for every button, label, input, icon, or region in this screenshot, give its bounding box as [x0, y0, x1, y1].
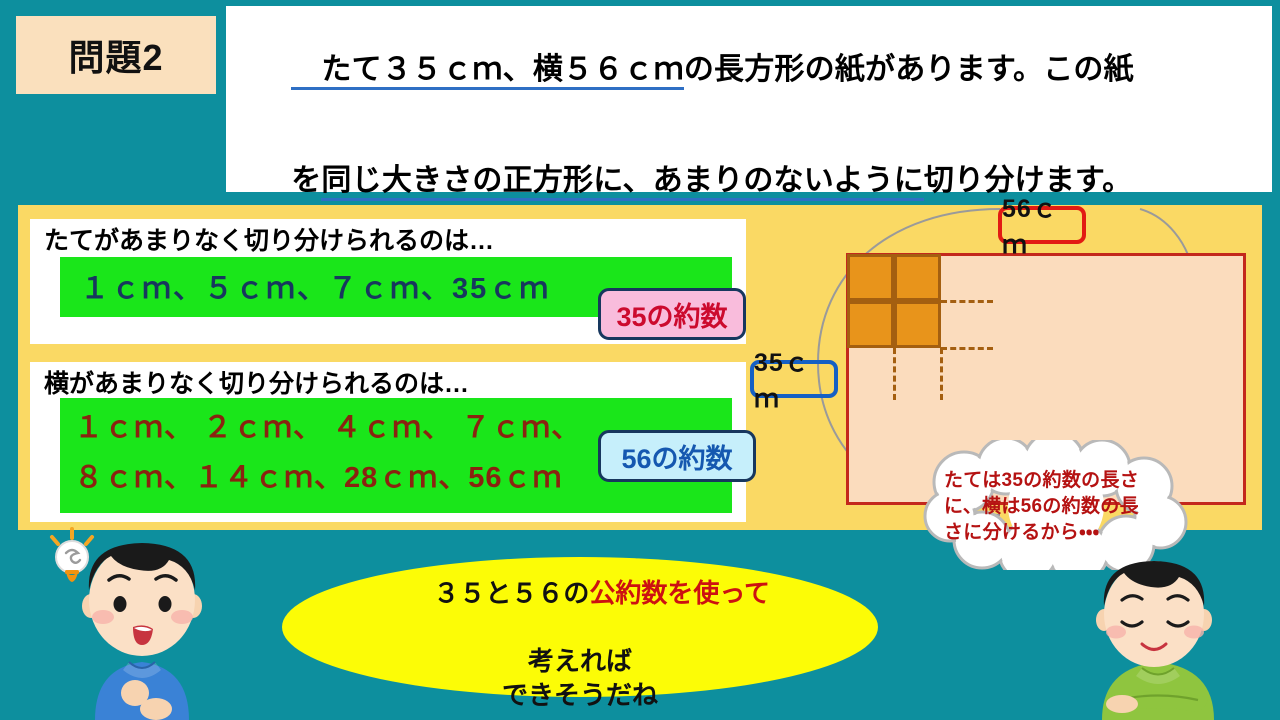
slide-root: 問題2 たて３５ｃｍ、横５６ｃｍの長方形の紙があります。この紙 を同じ大きさの正… [0, 0, 1280, 720]
dashed-guide-horizontal [941, 347, 993, 350]
problem-seg-2a: を [291, 164, 321, 197]
yoko-card-heading: 横があまりなく切り分けられるのは… [44, 364, 469, 400]
conclusion-line-3: できそうだね [502, 678, 658, 712]
dashed-guide-horizontal [941, 300, 993, 303]
speech-bubble-text: たては35の約数の長さ に、横は56の約数の長 さに分けるから・・・ [944, 468, 1176, 546]
badge-divisors-of-35: 35の約数 [598, 288, 746, 340]
width-dimension-label: 56ｃｍ [998, 206, 1086, 244]
problem-seg-2b: 同じ大きさの正方形に、あまりのないように [321, 164, 924, 201]
badge-56-label: 56の約数 [621, 437, 732, 476]
yoko-divisors-values-line-1: １ｃｍ、 ２ｃｍ、 ４ｃｍ、 ７ｃｍ、 [74, 404, 581, 446]
height-dimension-label: 35ｃｍ [750, 360, 838, 398]
conclusion-line-2: 考えれば [528, 644, 632, 678]
conclusion-ellipse: ３５と５６の公約数を使って 考えれば できそうだね [282, 557, 878, 697]
speech-line-3: さに分けるから・・・ [944, 520, 1176, 546]
square-cell [847, 301, 894, 348]
problem-line-1: たて３５ｃｍ、横５６ｃｍの長方形の紙があります。この紙 [240, 14, 1258, 125]
problem-seg-yoko56: 横５６ｃｍ [533, 53, 684, 90]
character-boy-thinking [1078, 552, 1238, 720]
problem-statement-card: たて３５ｃｍ、横５６ｃｍの長方形の紙があります。この紙 を同じ大きさの正方形に、… [226, 6, 1272, 192]
problem-number-label: 問題2 [68, 29, 163, 81]
badge-35-label: 35の約数 [616, 295, 727, 334]
dashed-guide-vertical [893, 348, 896, 400]
square-cell [894, 301, 941, 348]
tate-card-heading: たてがあまりなく切り分けられるのは… [44, 221, 494, 257]
character-boy-idea [55, 528, 230, 720]
square-cell [847, 254, 894, 301]
speech-line-1: たては35の約数の長さ [944, 468, 1176, 494]
conclusion-seg-1a: ３５と５６の [433, 578, 589, 608]
yoko-divisors-values-line-2: ８ｃｍ、１４ｃｍ、28ｃｍ、56ｃｍ [74, 454, 563, 496]
conclusion-seg-1b: 公約数を使って [589, 578, 770, 608]
problem-seg-tate35: たて３５ｃｍ、 [291, 53, 533, 90]
square-cell [894, 254, 941, 301]
conclusion-line-1: ３５と５６の公約数を使って [390, 542, 770, 644]
problem-seg-1c: の長方形の紙があります。この紙 [684, 53, 1134, 86]
badge-divisors-of-56: 56の約数 [598, 430, 756, 482]
problem-number-chip: 問題2 [16, 16, 216, 94]
tate-divisors-values: １ｃｍ、５ｃｍ、７ｃｍ、35ｃｍ [80, 265, 550, 307]
dashed-guide-vertical [940, 348, 943, 400]
speech-line-2: に、横は56の約数の長 [944, 494, 1176, 520]
